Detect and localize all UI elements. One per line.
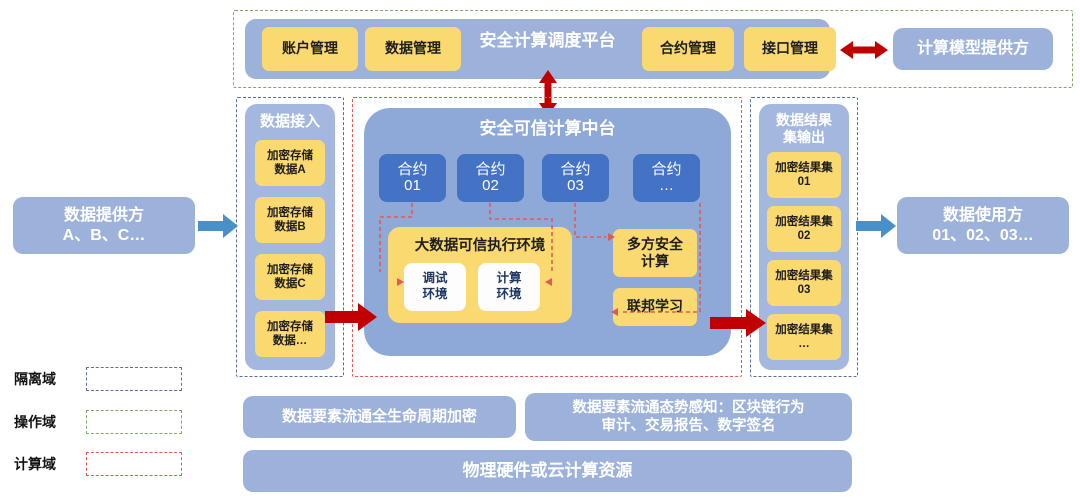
encrypted-result-more-line2: … — [798, 337, 810, 351]
trusted-platform-title: 安全可信计算中台 — [364, 116, 731, 142]
contract-01[interactable]: 合约 01 — [379, 154, 446, 202]
result-output-title: 数据结果 集输出 — [776, 112, 832, 146]
bidirectional-arrow-model-provider — [840, 38, 888, 62]
encrypted-storage-c-line2: 数据C — [274, 277, 305, 291]
data-consumer-line2: 01、02、03… — [932, 226, 1033, 246]
smpc-line2: 计算 — [641, 253, 669, 271]
encrypted-result-01-line1: 加密结果集 — [775, 161, 833, 175]
model-provider-box: 计算模型提供方 — [893, 28, 1053, 70]
encrypted-storage-c-line1: 加密存储 — [267, 263, 313, 277]
contract-01-line2: 01 — [404, 178, 421, 195]
encrypted-result-02[interactable]: 加密结果集 02 — [767, 206, 841, 252]
federated-learning[interactable]: 联邦学习 — [613, 288, 697, 326]
contract-03[interactable]: 合约 03 — [542, 154, 609, 202]
encrypted-result-more[interactable]: 加密结果集 … — [767, 314, 841, 360]
bottom-bar-encryption: 数据要素流通全生命周期加密 — [243, 396, 516, 438]
contract-more-line1: 合约 — [651, 162, 681, 179]
contract-more-line2: … — [659, 178, 674, 195]
tee-debug-line2: 环境 — [422, 287, 447, 303]
bottom-bar-awareness-line1: 数据要素流通态势感知：区块链行为 — [573, 399, 805, 417]
encrypted-result-more-line1: 加密结果集 — [775, 323, 833, 337]
contract-03-line2: 03 — [567, 178, 584, 195]
module-account-management[interactable]: 账户管理 — [262, 27, 358, 71]
arrow-output-to-consumer — [856, 213, 896, 239]
encrypted-result-02-line1: 加密结果集 — [775, 215, 833, 229]
module-contract-management[interactable]: 合约管理 — [642, 27, 734, 71]
legend-label-computation: 计算域 — [14, 453, 80, 475]
tee-compute-environment[interactable]: 计算 环境 — [478, 263, 540, 311]
contract-02-line2: 02 — [482, 178, 499, 195]
bottom-bar-awareness: 数据要素流通态势感知：区块链行为 审计、交易报告、数字签名 — [525, 393, 852, 441]
secure-multiparty-computation[interactable]: 多方安全 计算 — [613, 229, 697, 277]
encrypted-result-03-line2: 03 — [798, 283, 811, 297]
module-interface-management[interactable]: 接口管理 — [744, 27, 836, 71]
contract-02[interactable]: 合约 02 — [457, 154, 524, 202]
encrypted-storage-more-line1: 加密存储 — [267, 320, 313, 334]
data-provider-line1: 数据提供方 — [64, 206, 144, 226]
contract-02-line1: 合约 — [475, 162, 505, 179]
contract-03-line1: 合约 — [560, 162, 590, 179]
arrow-core-to-output — [710, 308, 766, 338]
legend-label-isolation: 隔离域 — [14, 368, 80, 390]
tee-compute-line2: 环境 — [496, 287, 521, 303]
encrypted-storage-a-line2: 数据A — [274, 163, 305, 177]
legend-swatch-operation — [86, 410, 182, 434]
data-consumer-box: 数据使用方 01、02、03… — [897, 197, 1069, 254]
tee-compute-line1: 计算 — [496, 271, 521, 287]
encrypted-storage-b-line1: 加密存储 — [267, 206, 313, 220]
data-consumer-line1: 数据使用方 — [943, 206, 1023, 226]
arrow-access-to-core — [325, 302, 377, 332]
architecture-diagram: 安全计算调度平台 账户管理 数据管理 合约管理 接口管理 计算模型提供方 数据接… — [0, 0, 1080, 503]
scheduling-platform-title: 安全计算调度平台 — [455, 28, 640, 54]
legend-swatch-computation — [86, 452, 182, 476]
encrypted-storage-c[interactable]: 加密存储 数据C — [255, 254, 325, 300]
tee-debug-line1: 调试 — [422, 271, 447, 287]
encrypted-storage-b[interactable]: 加密存储 数据B — [255, 197, 325, 243]
bottom-bar-awareness-line2: 审计、交易报告、数字签名 — [602, 417, 776, 435]
smpc-line1: 多方安全 — [627, 236, 683, 254]
data-provider-line2: A、B、C… — [63, 226, 146, 246]
encrypted-result-01[interactable]: 加密结果集 01 — [767, 152, 841, 198]
encrypted-storage-a[interactable]: 加密存储 数据A — [255, 140, 325, 186]
encrypted-storage-more-line2: 数据… — [273, 334, 308, 348]
encrypted-storage-more[interactable]: 加密存储 数据… — [255, 311, 325, 357]
contract-01-line1: 合约 — [397, 162, 427, 179]
result-output-title-line1: 数据结果 — [776, 112, 832, 128]
encrypted-result-03[interactable]: 加密结果集 03 — [767, 260, 841, 306]
encrypted-result-02-line2: 02 — [798, 229, 811, 243]
encrypted-storage-a-line1: 加密存储 — [267, 149, 313, 163]
bottom-bar-infrastructure: 物理硬件或云计算资源 — [243, 450, 852, 492]
tee-debug-environment[interactable]: 调试 环境 — [404, 263, 466, 311]
data-provider-box: 数据提供方 A、B、C… — [13, 197, 195, 254]
encrypted-storage-b-line2: 数据B — [274, 220, 305, 234]
data-access-title: 数据接入 — [260, 113, 320, 131]
module-data-management[interactable]: 数据管理 — [365, 27, 461, 71]
contract-more[interactable]: 合约 … — [633, 154, 700, 202]
legend-label-operation: 操作域 — [14, 411, 80, 433]
encrypted-result-03-line1: 加密结果集 — [775, 269, 833, 283]
arrow-provider-to-access — [198, 213, 238, 239]
tee-title: 大数据可信执行环境 — [388, 234, 572, 258]
encrypted-result-01-line2: 01 — [798, 175, 811, 189]
result-output-title-line2: 集输出 — [783, 129, 825, 145]
legend-swatch-isolation — [86, 367, 182, 391]
